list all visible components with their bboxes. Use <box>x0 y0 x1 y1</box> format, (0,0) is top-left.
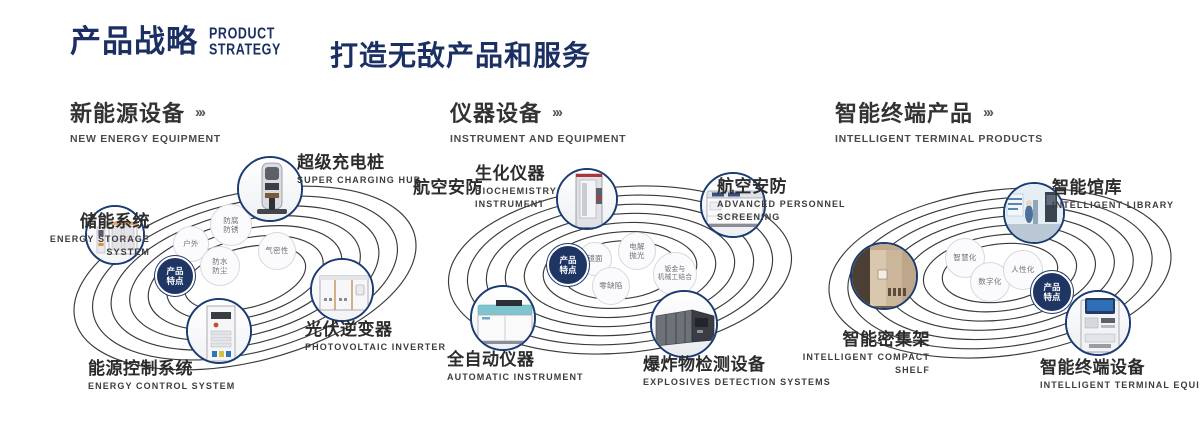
control-cabinet-icon <box>188 300 250 362</box>
biochemistry-instrument-icon <box>558 170 616 228</box>
badge-line-1: 产品 <box>1043 282 1060 292</box>
product-photo <box>239 158 301 220</box>
product-photo <box>188 300 250 362</box>
feature-bubble-text: 零缺陷 <box>599 281 622 290</box>
product-circle-energy-control-system[interactable] <box>186 298 252 364</box>
product-label-automatic-instrument: 全自动仪器 AUTOMATIC INSTRUMENT <box>447 350 584 383</box>
feature-bubble-text: 防水 <box>212 257 228 266</box>
product-label-cn: 智能终端设备 <box>1040 358 1200 378</box>
product-label-en-line2: INSTRUMENT <box>475 199 557 210</box>
product-label-cn: 能源控制系统 <box>88 359 235 379</box>
product-label-en-line1: INTELLIGENT COMPACT <box>790 352 930 363</box>
product-label-intelligent-library: 智能馆库 INTELLIGENT LIBRARY <box>1052 178 1174 211</box>
product-photo <box>852 244 916 308</box>
section-title-cn-text: 新能源设备 <box>70 96 185 128</box>
product-label-cn: 航空安防 <box>413 178 483 198</box>
charging-hub-icon <box>239 158 301 220</box>
product-label-cn: 超级充电桩 <box>297 153 421 173</box>
product-circle-photovoltaic-inverter[interactable] <box>310 258 374 322</box>
product-circle-explosives-detection[interactable] <box>650 290 718 358</box>
chevron-right-icon: ››› <box>983 104 992 121</box>
feature-bubble-text: 户外 <box>183 239 199 248</box>
feature-bubble: 防水 防尘 <box>200 246 240 286</box>
badge-line-2: 特点 <box>559 265 576 275</box>
badge-line-2: 特点 <box>1043 292 1060 302</box>
product-label-energy-storage: 储能系统 ENERGY STORAGE SYSTEM <box>0 212 150 258</box>
terminal-kiosk-icon <box>1067 292 1129 354</box>
product-label-en-line1: AUTOMATIC INSTRUMENT <box>447 372 584 383</box>
product-label-en-line2: SYSTEM <box>0 247 150 258</box>
feature-bubble: 钣金与 机械工结合 <box>653 252 697 296</box>
feature-bubble: 零缺陷 <box>592 267 630 305</box>
product-label-en-line1: EXPLOSIVES DETECTION SYSTEMS <box>643 377 831 388</box>
feature-bubble-text: 机械工结合 <box>658 274 692 282</box>
section-title-cn: 仪器设备 ››› <box>450 96 626 128</box>
section-title-intelligent: 智能终端产品 ››› INTELLIGENT TERMINAL PRODUCTS <box>835 96 1043 145</box>
product-label-cn: 智能馆库 <box>1052 178 1174 198</box>
product-label-cn: 全自动仪器 <box>447 350 584 370</box>
section-title-cn: 新能源设备 ››› <box>70 96 221 128</box>
product-label-intelligent-compact-shelf: 智能密集架 INTELLIGENT COMPACT SHELF <box>790 330 930 376</box>
product-photo <box>652 292 716 356</box>
page-title: 产品战略 <box>70 26 198 57</box>
feature-bubble-text: 抛光 <box>629 251 645 260</box>
feature-bubble: 气密性 <box>258 232 296 270</box>
explosives-detection-icon <box>652 292 716 356</box>
product-label-en-line2: SHELF <box>790 365 930 376</box>
chevron-right-icon: ››› <box>195 104 204 121</box>
feature-bubble-text: 气密性 <box>265 246 288 255</box>
product-strategy-infographic: 产品战略 PRODUCT STRATEGY 打造无敌产品和服务 新能源设备 ››… <box>0 0 1200 422</box>
product-label-energy-control-system: 能源控制系统 ENERGY CONTROL SYSTEM <box>88 359 235 392</box>
product-label-en-line1: ENERGY CONTROL SYSTEM <box>88 381 235 392</box>
product-features-badge: 产品 特点 <box>547 244 589 286</box>
feature-bubble-text: 防腐 <box>223 216 239 225</box>
chevron-right-icon: ››› <box>552 104 561 121</box>
feature-bubble: 电解 抛光 <box>618 232 656 270</box>
product-circle-automatic-instrument[interactable] <box>470 285 536 351</box>
compact-shelf-icon <box>852 244 916 308</box>
product-label-aviation-security-left: 航空安防 <box>413 178 483 198</box>
feature-bubble-text: 数字化 <box>978 277 1001 286</box>
section-title-cn: 智能终端产品 ››› <box>835 96 1043 128</box>
section-title-en: INTELLIGENT TERMINAL PRODUCTS <box>835 133 1043 145</box>
section-title-cn-text: 智能终端产品 <box>835 96 973 128</box>
product-photo <box>472 287 534 349</box>
section-title-en: NEW ENERGY EQUIPMENT <box>70 133 221 145</box>
page-title-en-line1: PRODUCT <box>209 25 281 41</box>
section-title-new-energy: 新能源设备 ››› NEW ENERGY EQUIPMENT <box>70 96 221 145</box>
product-label-intelligent-terminal-equipment: 智能终端设备 INTELLIGENT TERMINAL EQUIPMENT <box>1040 358 1200 391</box>
automatic-instrument-icon <box>472 287 534 349</box>
section-title-en: INSTRUMENT AND EQUIPMENT <box>450 133 626 145</box>
page-header: 产品战略 PRODUCT STRATEGY <box>70 26 281 57</box>
feature-bubble-text: 电解 <box>629 242 645 251</box>
feature-bubble-text: 镜面 <box>587 254 603 263</box>
product-label-en-line1: INTELLIGENT LIBRARY <box>1052 200 1174 211</box>
page-title-en-line2: STRATEGY <box>209 42 281 58</box>
feature-bubble-text: 智慧化 <box>953 253 976 262</box>
product-photo <box>312 260 372 320</box>
badge-line-2: 特点 <box>166 276 183 286</box>
badge-line-1: 产品 <box>166 266 183 276</box>
product-label-cn: 生化仪器 <box>475 164 557 184</box>
page-title-en: PRODUCT STRATEGY <box>209 25 281 58</box>
product-circle-biochemistry-instrument[interactable] <box>556 168 618 230</box>
product-photo <box>1067 292 1129 354</box>
product-circle-super-charging-hub[interactable] <box>237 156 303 222</box>
product-photo <box>558 170 616 228</box>
inverter-icon <box>312 260 372 320</box>
product-label-cn: 智能密集架 <box>790 330 930 350</box>
product-label-biochemistry-instrument: 生化仪器 BIOCHEMISTRY INSTRUMENT <box>475 164 557 210</box>
badge-line-1: 产品 <box>559 255 576 265</box>
product-label-en-line1: BIOCHEMISTRY <box>475 186 557 197</box>
feature-bubble-text: 人性化 <box>1011 265 1034 274</box>
product-label-super-charging-hub: 超级充电桩 SUPER CHARGING HUB <box>297 153 421 186</box>
product-label-en-line1: SUPER CHARGING HUB <box>297 175 421 186</box>
product-circle-intelligent-terminal-equipment[interactable] <box>1065 290 1131 356</box>
section-title-cn-text: 仪器设备 <box>450 96 542 128</box>
product-label-cn: 储能系统 <box>0 212 150 232</box>
feature-bubble-text: 防锈 <box>223 225 239 234</box>
product-label-en-line1: ENERGY STORAGE <box>0 234 150 245</box>
feature-bubble-text: 钣金与 <box>665 266 686 274</box>
page-subtitle: 打造无敌产品和服务 <box>330 34 591 74</box>
section-title-instrument: 仪器设备 ››› INSTRUMENT AND EQUIPMENT <box>450 96 626 145</box>
feature-bubble-text: 防尘 <box>212 266 228 275</box>
product-circle-intelligent-compact-shelf[interactable] <box>850 242 918 310</box>
product-label-en-line1: INTELLIGENT TERMINAL EQUIPMENT <box>1040 380 1200 391</box>
product-features-badge: 产品 特点 <box>155 256 195 296</box>
